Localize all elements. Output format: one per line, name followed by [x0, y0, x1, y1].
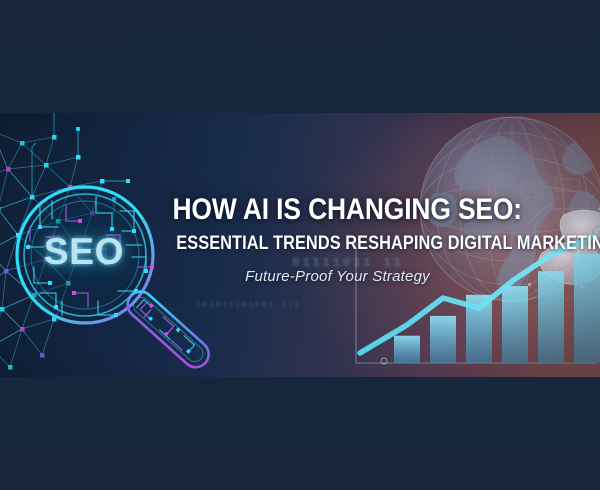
banner-text-block: HOW AI IS CHANGING SEO: ESSENTIAL TRENDS…: [150, 195, 525, 285]
page-root: 01111011 11 101011101001 111 010 1010 01…: [0, 0, 600, 490]
seo-wordmark: SEO: [29, 231, 139, 273]
banner-subheadline: ESSENTIAL TRENDS RESHAPING DIGITAL MARKE…: [176, 234, 499, 253]
seo-banner-image: 01111011 11 101011101001 111 010 1010 01…: [0, 113, 600, 377]
banner-headline: HOW AI IS CHANGING SEO:: [173, 195, 503, 225]
banner-tagline: Future-Proof Your Strategy: [150, 268, 525, 285]
